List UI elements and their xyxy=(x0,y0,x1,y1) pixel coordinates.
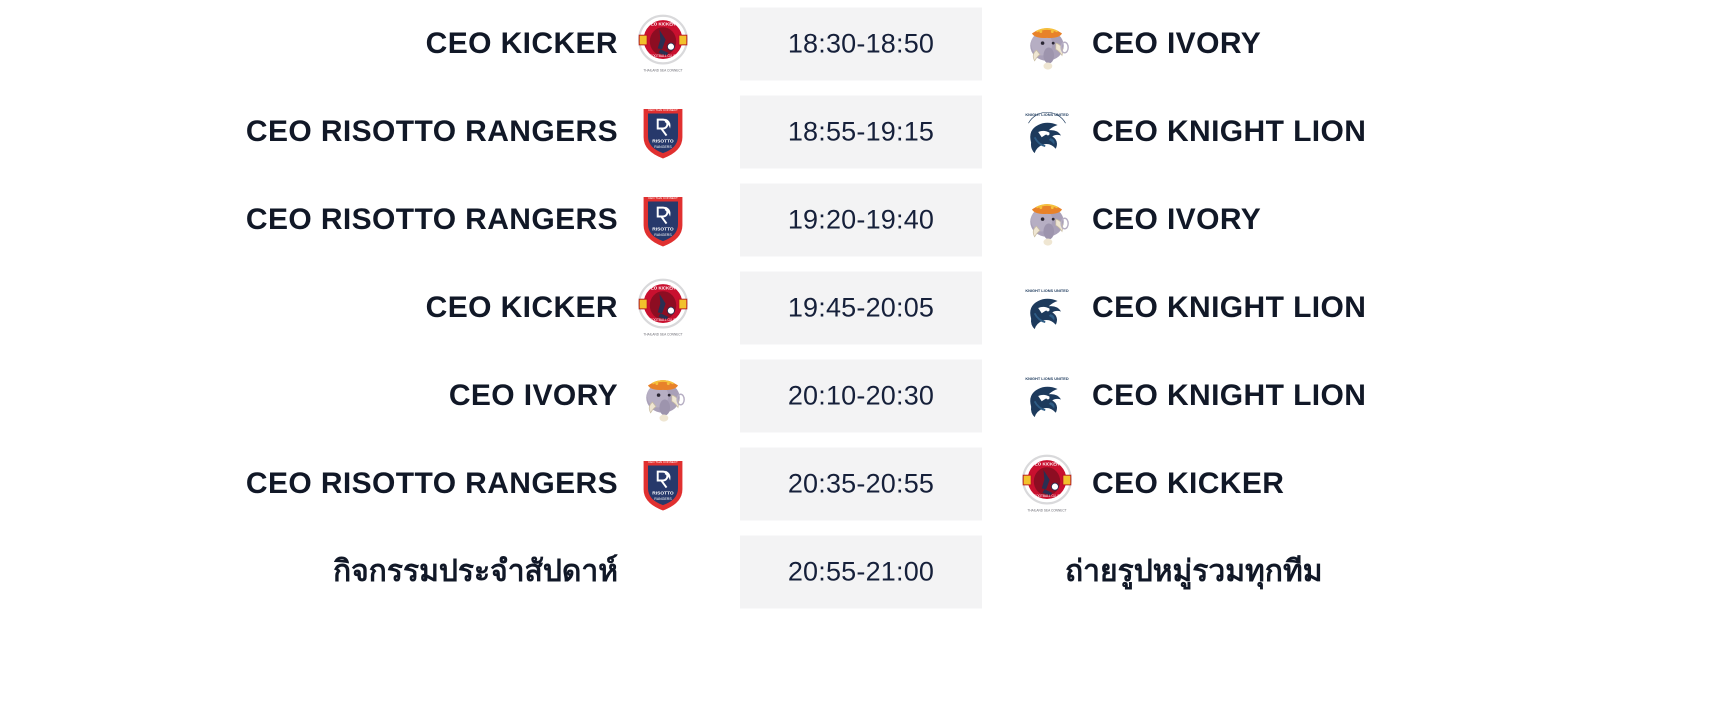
activity-label: กิจกรรมประจำสัปดาห์ xyxy=(333,557,618,587)
svg-text:CEO THAI CONNECT: CEO THAI CONNECT xyxy=(648,196,678,200)
match-time-box: 20:55-21:00 xyxy=(740,536,982,609)
schedule-row: CEO KICKER CEO KICKERS FOOTBALL CLUB THA… xyxy=(0,0,1727,88)
away-team-block: CEO IVORY xyxy=(1020,176,1720,264)
away-team-block: CEO KICKERS FOOTBALL CLUB THAILAND SEA C… xyxy=(1020,440,1720,528)
match-time: 19:45-20:05 xyxy=(788,295,934,322)
away-team-block: KNIGHT LIONS UNITED CEO KNIGHT LION xyxy=(1020,264,1720,352)
svg-text:CEO KICKERS: CEO KICKERS xyxy=(648,21,679,26)
svg-text:RANGERS: RANGERS xyxy=(654,145,672,149)
home-team-block: CEO KICKER CEO KICKERS FOOTBALL CLUB THA… xyxy=(0,264,700,352)
svg-text:RANGERS: RANGERS xyxy=(654,233,672,237)
home-team-name: CEO KICKER xyxy=(426,293,618,323)
ceo-kickers-crest-icon: CEO KICKERS FOOTBALL CLUB THAILAND SEA C… xyxy=(1020,454,1074,514)
home-team-block: CEO RISOTTO RANGERS CEO THAI CONNECT RIS… xyxy=(0,88,700,176)
schedule-row: CEO RISOTTO RANGERS CEO THAI CONNECT RIS… xyxy=(0,440,1727,528)
schedule-row: CEO RISOTTO RANGERS CEO THAI CONNECT RIS… xyxy=(0,176,1727,264)
match-time: 20:10-20:30 xyxy=(788,383,934,410)
schedule-row-activity: กิจกรรมประจำสัปดาห์ 20:55-21:00 ถ่ายรูปห… xyxy=(0,528,1727,616)
ceo-ivory-elephant-icon xyxy=(1020,190,1074,250)
away-team-block: KNIGHT LIONS UNITED CEO KNIGHT LION xyxy=(1020,88,1720,176)
svg-text:KNIGHT LIONS UNITED: KNIGHT LIONS UNITED xyxy=(1025,376,1068,381)
activity-description-block: ถ่ายรูปหมู่รวมทุกทีม xyxy=(1020,528,1720,616)
svg-text:THAILAND SEA CONNECT: THAILAND SEA CONNECT xyxy=(643,68,682,72)
svg-text:THAILAND SEA CONNECT: THAILAND SEA CONNECT xyxy=(643,332,682,336)
home-team-name: CEO RISOTTO RANGERS xyxy=(246,205,618,235)
svg-text:CEO THAI CONNECT: CEO THAI CONNECT xyxy=(648,460,678,464)
away-team-block: KNIGHT LIONS UNITED CEO KNIGHT LION xyxy=(1020,352,1720,440)
match-time-box: 19:20-19:40 xyxy=(740,184,982,257)
away-team-name: CEO KNIGHT LION xyxy=(1092,117,1366,147)
svg-text:FOOTBALL CLUB: FOOTBALL CLUB xyxy=(1034,494,1060,498)
ceo-knight-lions-united-icon: KNIGHT LIONS UNITED xyxy=(1020,278,1074,338)
activity-description: ถ่ายรูปหมู่รวมทุกทีม xyxy=(1065,557,1323,587)
svg-text:RISOTTO: RISOTTO xyxy=(652,139,674,145)
match-time: 18:55-19:15 xyxy=(788,119,934,146)
ceo-risotto-rangers-shield-icon: CEO THAI CONNECT RISOTTO RANGERS xyxy=(636,454,690,514)
svg-text:FOOTBALL CLUB: FOOTBALL CLUB xyxy=(650,318,676,322)
ceo-knight-lions-united-icon: KNIGHT LIONS UNITED xyxy=(1020,102,1074,162)
schedule-row: CEO IVORY xyxy=(0,352,1727,440)
ceo-risotto-rangers-shield-icon: CEO THAI CONNECT RISOTTO RANGERS xyxy=(636,102,690,162)
match-time-box: 18:30-18:50 xyxy=(740,8,982,81)
match-time-box: 18:55-19:15 xyxy=(740,96,982,169)
svg-text:THAILAND SEA CONNECT: THAILAND SEA CONNECT xyxy=(1027,508,1066,512)
match-time: 20:55-21:00 xyxy=(788,559,934,586)
match-time: 19:20-19:40 xyxy=(788,207,934,234)
match-time: 20:35-20:55 xyxy=(788,471,934,498)
svg-text:RANGERS: RANGERS xyxy=(654,497,672,501)
home-team-block: CEO KICKER CEO KICKERS FOOTBALL CLUB THA… xyxy=(0,0,700,88)
activity-label-block: กิจกรรมประจำสัปดาห์ xyxy=(0,528,700,616)
away-team-name: CEO IVORY xyxy=(1092,205,1261,235)
home-team-name: CEO KICKER xyxy=(426,29,618,59)
match-time: 18:30-18:50 xyxy=(788,31,934,58)
ceo-risotto-rangers-shield-icon: CEO THAI CONNECT RISOTTO RANGERS xyxy=(636,190,690,250)
svg-text:CEO THAI CONNECT: CEO THAI CONNECT xyxy=(648,108,678,112)
match-time-box: 19:45-20:05 xyxy=(740,272,982,345)
svg-text:KNIGHT LIONS UNITED: KNIGHT LIONS UNITED xyxy=(1025,288,1068,293)
home-team-block: CEO IVORY xyxy=(0,352,700,440)
away-team-name: CEO KNIGHT LION xyxy=(1092,293,1366,323)
home-team-name: CEO RISOTTO RANGERS xyxy=(246,469,618,499)
match-time-box: 20:10-20:30 xyxy=(740,360,982,433)
ceo-ivory-elephant-icon xyxy=(636,366,690,426)
home-team-block: CEO RISOTTO RANGERS CEO THAI CONNECT RIS… xyxy=(0,176,700,264)
away-team-block: CEO IVORY xyxy=(1020,0,1720,88)
away-team-name: CEO KNIGHT LION xyxy=(1092,381,1366,411)
home-team-block: CEO RISOTTO RANGERS CEO THAI CONNECT RIS… xyxy=(0,440,700,528)
away-team-name: CEO KICKER xyxy=(1092,469,1284,499)
svg-text:CEO KICKERS: CEO KICKERS xyxy=(648,285,679,290)
ceo-kickers-crest-icon: CEO KICKERS FOOTBALL CLUB THAILAND SEA C… xyxy=(636,14,690,74)
ceo-ivory-elephant-icon xyxy=(1020,14,1074,74)
svg-text:KNIGHT LIONS UNITED: KNIGHT LIONS UNITED xyxy=(1025,112,1068,117)
home-team-name: CEO RISOTTO RANGERS xyxy=(246,117,618,147)
home-team-name: CEO IVORY xyxy=(449,381,618,411)
svg-text:FOOTBALL CLUB: FOOTBALL CLUB xyxy=(650,54,676,58)
schedule-row: CEO KICKER CEO KICKERS FOOTBALL CLUB THA… xyxy=(0,264,1727,352)
away-team-name: CEO IVORY xyxy=(1092,29,1261,59)
match-time-box: 20:35-20:55 xyxy=(740,448,982,521)
svg-text:CEO KICKERS: CEO KICKERS xyxy=(1032,461,1063,466)
svg-text:RISOTTO: RISOTTO xyxy=(652,491,674,497)
svg-text:RISOTTO: RISOTTO xyxy=(652,227,674,233)
schedule-row: CEO RISOTTO RANGERS CEO THAI CONNECT RIS… xyxy=(0,88,1727,176)
match-schedule-board: CEO KICKER CEO KICKERS FOOTBALL CLUB THA… xyxy=(0,0,1727,725)
ceo-kickers-crest-icon: CEO KICKERS FOOTBALL CLUB THAILAND SEA C… xyxy=(636,278,690,338)
ceo-knight-lions-united-icon: KNIGHT LIONS UNITED xyxy=(1020,366,1074,426)
